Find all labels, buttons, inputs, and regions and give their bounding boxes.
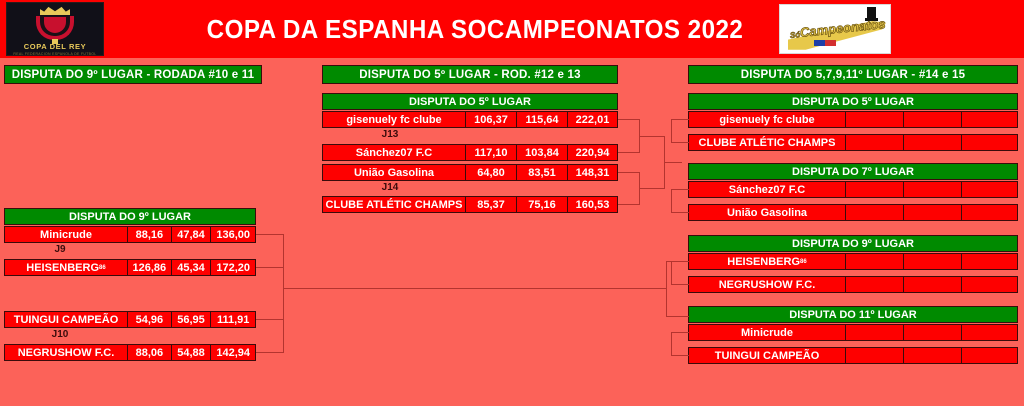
score-leg1[interactable] <box>845 348 903 363</box>
score-leg1: 126,86 <box>127 260 171 275</box>
match-row[interactable]: CLUBE ATLÉTIC CHAMPS <box>688 134 1018 151</box>
group-header-right-9th: DISPUTA DO 9º LUGAR <box>688 235 1018 252</box>
score-leg1: 85,37 <box>465 197 516 212</box>
match-row[interactable]: gisenuely fc clube 106,37 115,64 222,01 <box>322 111 618 128</box>
match-row[interactable]: NEGRUSHOW F.C. 88,06 54,88 142,94 <box>4 344 256 361</box>
score-leg2: 115,64 <box>516 112 567 127</box>
copa-del-rey-sublabel: REAL FEDERACION ESPANOLA DE FUTBOL <box>10 52 100 56</box>
team-name: HEISENBERG86 <box>5 260 127 275</box>
team-label: NEGRUSHOW F.C. <box>18 347 115 359</box>
score-total[interactable] <box>961 205 1017 220</box>
score-total: 220,94 <box>567 145 617 160</box>
group-header-right-11th: DISPUTA DO 11º LUGAR <box>688 306 1018 323</box>
group-header-left-9th: DISPUTA DO 9º LUGAR <box>4 208 256 225</box>
score-leg2: 83,51 <box>516 165 567 180</box>
team-label: TUINGUI CAMPEÃO <box>14 314 119 326</box>
team-name: Minicrude <box>5 227 127 242</box>
team-name: Sánchez07 F.C <box>323 145 465 160</box>
connector <box>671 119 672 143</box>
match-row[interactable]: TUINGUI CAMPEÃO <box>688 347 1018 364</box>
score-total: 111,91 <box>210 312 255 327</box>
connector <box>671 212 689 213</box>
team-name: TUINGUI CAMPEÃO <box>5 312 127 327</box>
connector <box>256 319 284 320</box>
score-leg2[interactable] <box>903 135 961 150</box>
copa-del-rey-logo: COPA DEL REY REAL FEDERACION ESPANOLA DE… <box>6 2 104 56</box>
score-leg1: 117,10 <box>465 145 516 160</box>
connector <box>618 152 640 153</box>
score-leg2: 103,84 <box>516 145 567 160</box>
team-name: NEGRUSHOW F.C. <box>5 345 127 360</box>
score-leg1: 88,06 <box>127 345 171 360</box>
score-leg1[interactable] <box>845 135 903 150</box>
connector <box>666 261 689 262</box>
score-total: 222,01 <box>567 112 617 127</box>
score-leg1: 54,96 <box>127 312 171 327</box>
connector <box>618 119 640 120</box>
match-row[interactable]: União Gasolina 64,80 83,51 148,31 <box>322 164 618 181</box>
page-header: COPA DEL REY REAL FEDERACION ESPANOLA DE… <box>0 0 1024 58</box>
score-leg2: 45,34 <box>171 260 211 275</box>
team-name: Sánchez07 F.C <box>689 182 845 197</box>
match-label-j13: J13 <box>360 129 420 140</box>
team-suffix: 86 <box>99 265 106 271</box>
match-row[interactable]: União Gasolina <box>688 204 1018 221</box>
team-name: HEISENBERG86 <box>689 254 845 269</box>
flag-shape-2 <box>825 40 836 46</box>
match-label-j14: J14 <box>360 182 420 193</box>
bracket-page: COPA DEL REY REAL FEDERACION ESPANOLA DE… <box>0 0 1024 406</box>
connector <box>664 162 682 163</box>
team-name: TUINGUI CAMPEÃO <box>689 348 845 363</box>
score-total[interactable] <box>961 182 1017 197</box>
connector <box>671 119 689 120</box>
score-total: 136,00 <box>210 227 255 242</box>
match-row[interactable]: HEISENBERG86 <box>688 253 1018 270</box>
score-leg2[interactable] <box>903 182 961 197</box>
match-row[interactable]: Minicrude <box>688 324 1018 341</box>
so-campeonatos-logo: SóCampeonatos <box>779 4 891 54</box>
section-header-middle: DISPUTA DO 5º LUGAR - ROD. #12 e 13 <box>322 65 618 84</box>
score-total[interactable] <box>961 135 1017 150</box>
team-name: União Gasolina <box>689 205 845 220</box>
score-total: 160,53 <box>567 197 617 212</box>
team-name: NEGRUSHOW F.C. <box>689 277 845 292</box>
score-leg2[interactable] <box>903 254 961 269</box>
connector <box>671 355 689 356</box>
connector <box>618 172 640 173</box>
connector <box>256 234 284 235</box>
connector <box>618 204 640 205</box>
team-name: União Gasolina <box>323 165 465 180</box>
match-row[interactable]: Sánchez07 F.C <box>688 181 1018 198</box>
score-total[interactable] <box>961 325 1017 340</box>
score-leg1: 106,37 <box>465 112 516 127</box>
connector-bridge <box>283 288 667 289</box>
connector <box>639 136 665 137</box>
score-leg1[interactable] <box>845 325 903 340</box>
connector <box>283 251 284 336</box>
score-total[interactable] <box>961 348 1017 363</box>
score-leg2[interactable] <box>903 112 961 127</box>
section-header-right: DISPUTA DO 5,7,9,11º LUGAR - #14 e 15 <box>688 65 1018 84</box>
group-header-right-7th: DISPUTA DO 7º LUGAR <box>688 163 1018 180</box>
match-row[interactable]: HEISENBERG86 126,86 45,34 172,20 <box>4 259 256 276</box>
match-row[interactable]: Minicrude 88,16 47,84 136,00 <box>4 226 256 243</box>
score-leg1[interactable] <box>845 205 903 220</box>
connector <box>671 332 689 333</box>
team-label: HEISENBERG <box>727 256 800 268</box>
team-name: CLUBE ATLÉTIC CHAMPS <box>323 197 465 212</box>
score-leg1[interactable] <box>845 182 903 197</box>
score-total[interactable] <box>961 277 1017 292</box>
match-row[interactable]: Sánchez07 F.C 117,10 103,84 220,94 <box>322 144 618 161</box>
page-title: COPA DA ESPANHA SOCAMPEONATOS 2022 <box>196 0 754 58</box>
score-leg2[interactable] <box>903 325 961 340</box>
score-leg2[interactable] <box>903 205 961 220</box>
connector <box>671 261 672 285</box>
score-leg1: 64,80 <box>465 165 516 180</box>
score-total[interactable] <box>961 112 1017 127</box>
connector <box>671 332 672 355</box>
score-leg2[interactable] <box>903 277 961 292</box>
match-label-j10: J10 <box>30 329 90 340</box>
match-label-j9: J9 <box>30 244 90 255</box>
score-leg1[interactable] <box>845 254 903 269</box>
group-header-right-5th: DISPUTA DO 5º LUGAR <box>688 93 1018 110</box>
match-row[interactable]: TUINGUI CAMPEÃO 54,96 56,95 111,91 <box>4 311 256 328</box>
score-leg2: 47,84 <box>171 227 211 242</box>
team-label: HEISENBERG <box>26 262 99 274</box>
score-total: 172,20 <box>210 260 255 275</box>
copa-del-rey-label: COPA DEL REY <box>10 42 100 51</box>
connector <box>671 142 689 143</box>
score-leg1: 88,16 <box>127 227 171 242</box>
score-leg1[interactable] <box>845 277 903 292</box>
connector <box>256 267 284 268</box>
campeonatos-word: Campeonatos <box>799 16 886 40</box>
connector <box>666 261 667 316</box>
match-row[interactable]: CLUBE ATLÉTIC CHAMPS 85,37 75,16 160,53 <box>322 196 618 213</box>
crown-icon <box>40 6 70 15</box>
connector <box>666 316 689 317</box>
score-total: 142,94 <box>210 345 255 360</box>
team-name: gisenuely fc clube <box>689 112 845 127</box>
connector <box>671 284 689 285</box>
connector <box>639 188 665 189</box>
team-suffix: 86 <box>800 259 807 265</box>
group-header-middle-5th: DISPUTA DO 5º LUGAR <box>322 93 618 110</box>
score-leg2[interactable] <box>903 348 961 363</box>
team-name: gisenuely fc clube <box>323 112 465 127</box>
team-label: Minicrude <box>40 229 92 241</box>
team-name: CLUBE ATLÉTIC CHAMPS <box>689 135 845 150</box>
score-leg2: 54,88 <box>171 345 211 360</box>
connector <box>671 189 672 213</box>
match-row[interactable]: NEGRUSHOW F.C. <box>688 276 1018 293</box>
connector <box>256 352 284 353</box>
so-campeonatos-label: SóCampeonatos <box>789 16 887 50</box>
score-leg1[interactable] <box>845 112 903 127</box>
team-name: Minicrude <box>689 325 845 340</box>
match-row[interactable]: gisenuely fc clube <box>688 111 1018 128</box>
score-leg2: 56,95 <box>171 312 211 327</box>
section-header-left: DISPUTA DO 9º LUGAR - RODADA #10 e 11 <box>4 65 262 84</box>
score-total: 148,31 <box>567 165 617 180</box>
score-leg2: 75,16 <box>516 197 567 212</box>
connector <box>671 189 689 190</box>
score-total[interactable] <box>961 254 1017 269</box>
